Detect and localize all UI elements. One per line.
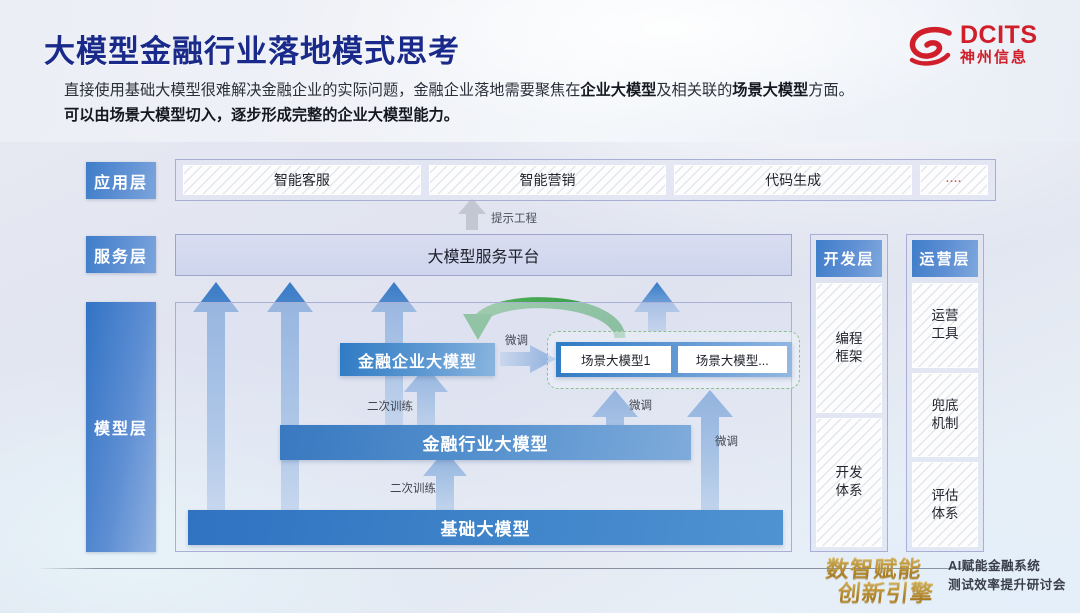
prompt-engineering-arrow <box>458 198 486 230</box>
dev-cell-development-system[interactable]: 开发体系 <box>816 418 882 548</box>
logo-text-cn: 神州信息 <box>960 48 1038 67</box>
model-box-industry[interactable]: 金融行业大模型 <box>280 425 691 460</box>
label-fine-tune-2: 微调 <box>629 397 652 413</box>
architecture-diagram: 应用层 服务层 模型层 智能客服 智能营销 代码生成 .... 提示工程 大模型… <box>0 142 1080 613</box>
logo-text-en: DCITS <box>960 22 1038 48</box>
model-box-base[interactable]: 基础大模型 <box>188 510 783 545</box>
scenario-model-1[interactable]: 场景大模型1 <box>561 346 671 373</box>
ops-cell-operation-tools[interactable]: 运营工具 <box>912 283 978 368</box>
page-subtitle: 直接使用基础大模型很难解决金融企业的实际问题，金融企业落地需要聚焦在企业大模型及… <box>64 78 1064 128</box>
scenario-model-more[interactable]: 场景大模型... <box>678 346 788 373</box>
subtitle-line-2: 可以由场景大模型切入，逐步形成完整的企业大模型能力。 <box>64 103 1064 128</box>
event-name-line-1: AI赋能金融系统 <box>948 557 1066 576</box>
ops-cell-evaluation-system-label: 评估体系 <box>932 487 959 523</box>
ops-cell-operation-tools-label: 运营工具 <box>932 307 959 343</box>
development-layer-header: 开发层 <box>816 240 882 277</box>
event-name: AI赋能金融系统 测试效率提升研讨会 <box>948 557 1066 595</box>
ops-cell-fallback-mechanism[interactable]: 兜底机制 <box>912 373 978 458</box>
subtitle-text-c: 及相关联的 <box>656 82 732 99</box>
event-logo: 数智赋能 创新引擎 <box>826 548 938 604</box>
event-logo-line-2: 创新引擎 <box>836 574 936 608</box>
subtitle-text-a: 直接使用基础大模型很难解决金融企业的实际问题，金融企业落地需要聚焦在 <box>64 82 580 99</box>
event-name-line-2: 测试效率提升研讨会 <box>948 576 1066 595</box>
layer-tag-application: 应用层 <box>86 162 156 199</box>
service-platform-box: 大模型服务平台 <box>175 234 792 276</box>
ops-cell-fallback-mechanism-label: 兜底机制 <box>932 397 959 433</box>
application-layer-container: 智能客服 智能营销 代码生成 .... <box>175 159 996 201</box>
operations-layer-header: 运营层 <box>912 240 978 277</box>
development-layer-column: 开发层 编程框架 开发体系 <box>810 234 888 552</box>
app-item-marketing[interactable]: 智能营销 <box>429 165 667 195</box>
app-item-customer-service[interactable]: 智能客服 <box>183 165 421 195</box>
ops-cell-evaluation-system[interactable]: 评估体系 <box>912 462 978 547</box>
app-item-more[interactable]: .... <box>920 165 988 195</box>
dev-cell-programming-framework[interactable]: 编程框架 <box>816 283 882 413</box>
company-logo: DCITS 神州信息 <box>908 22 1058 74</box>
subtitle-line-1: 直接使用基础大模型很难解决金融企业的实际问题，金融企业落地需要聚焦在企业大模型及… <box>64 78 1064 103</box>
dev-cell-programming-framework-label: 编程框架 <box>836 330 863 366</box>
label-fine-tune-1: 微调 <box>505 332 528 348</box>
subtitle-emph-scenario: 场景大模型 <box>732 82 808 99</box>
model-box-enterprise[interactable]: 金融企业大模型 <box>340 343 495 376</box>
label-retrain-2: 二次训练 <box>390 480 436 496</box>
label-fine-tune-3: 微调 <box>715 433 738 449</box>
dcits-swirl-icon <box>908 26 954 68</box>
layer-tag-service: 服务层 <box>86 236 156 273</box>
event-branding: 数智赋能 创新引擎 AI赋能金融系统 测试效率提升研讨会 <box>826 547 1066 605</box>
layer-tag-model: 模型层 <box>86 302 156 552</box>
page-title: 大模型金融行业落地模式思考 <box>44 26 460 71</box>
dev-cell-development-system-label: 开发体系 <box>836 464 863 500</box>
subtitle-emph-enterprise: 企业大模型 <box>580 82 656 99</box>
label-retrain-1: 二次训练 <box>367 398 413 414</box>
subtitle-text-e: 方面。 <box>808 82 854 99</box>
scenario-models-container: 场景大模型1 场景大模型... <box>556 342 792 377</box>
prompt-engineering-label: 提示工程 <box>491 210 537 226</box>
app-item-code-generation[interactable]: 代码生成 <box>674 165 912 195</box>
header-band: 大模型金融行业落地模式思考 直接使用基础大模型很难解决金融企业的实际问题，金融企… <box>0 0 1080 142</box>
more-dots-icon: .... <box>946 173 962 185</box>
operations-layer-column: 运营层 运营工具 兜底机制 评估体系 <box>906 234 984 552</box>
